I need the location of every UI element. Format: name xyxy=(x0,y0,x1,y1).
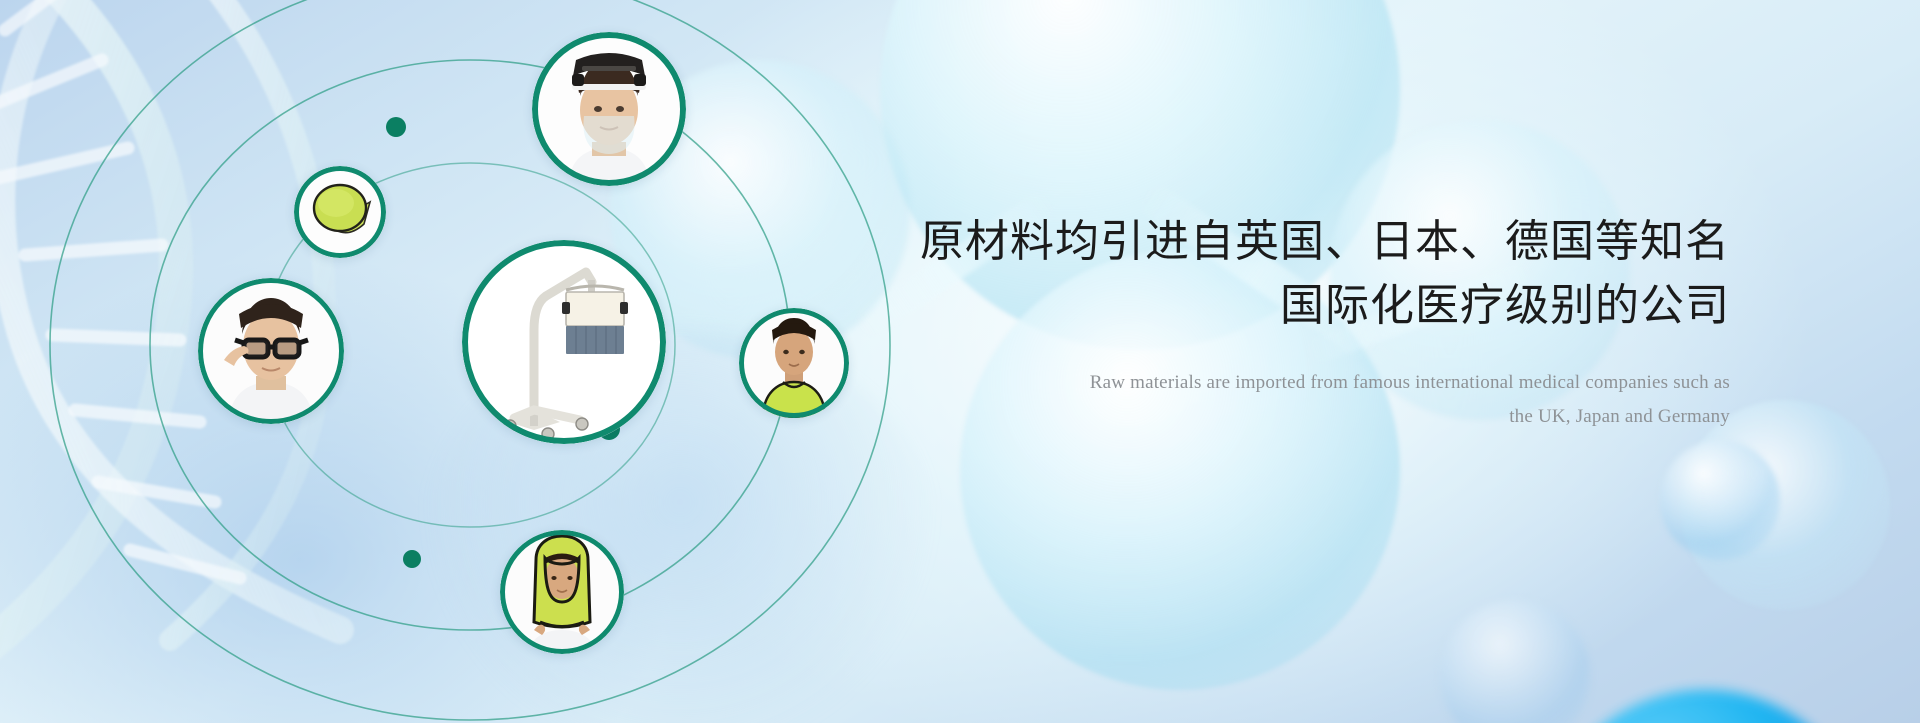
subtitle-line-2: the UK, Japan and Germany xyxy=(900,400,1730,434)
thyroid-collar-illustration xyxy=(739,308,849,418)
face-shield-photo[interactable] xyxy=(532,32,686,186)
thyroid-collar-photo[interactable] xyxy=(739,308,849,418)
banner-copy: 原材料均引进自英国、日本、德国等知名 国际化医疗级别的公司 Raw materi… xyxy=(900,210,1730,434)
pale-sphere xyxy=(1660,440,1780,560)
headline-line-2: 国际化医疗级别的公司 xyxy=(900,274,1730,338)
lead-cap-photo[interactable] xyxy=(294,166,386,258)
mobile-barrier-photo[interactable] xyxy=(462,240,666,444)
headline-line-1: 原材料均引进自英国、日本、德国等知名 xyxy=(920,217,1730,266)
page-title: 原材料均引进自英国、日本、德国等知名 国际化医疗级别的公司 xyxy=(900,210,1730,338)
hero-banner: 原材料均引进自英国、日本、德国等知名 国际化医疗级别的公司 Raw materi… xyxy=(0,0,1920,723)
face-shield-illustration xyxy=(532,32,686,186)
lead-glasses-illustration xyxy=(198,278,344,424)
lead-hood-photo[interactable] xyxy=(500,530,624,654)
lead-glasses-photo[interactable] xyxy=(198,278,344,424)
lead-cap-illustration xyxy=(294,166,386,258)
lead-hood-illustration xyxy=(500,530,624,654)
blue-sphere-accent xyxy=(1540,690,1870,723)
subtitle-line-1: Raw materials are imported from famous i… xyxy=(900,366,1730,400)
mobile-barrier-illustration xyxy=(462,240,666,444)
pale-sphere-2 xyxy=(1440,600,1590,723)
subtitle: Raw materials are imported from famous i… xyxy=(900,366,1730,434)
orbit-dot-1 xyxy=(386,117,406,137)
orbit-dot-6 xyxy=(403,550,421,568)
